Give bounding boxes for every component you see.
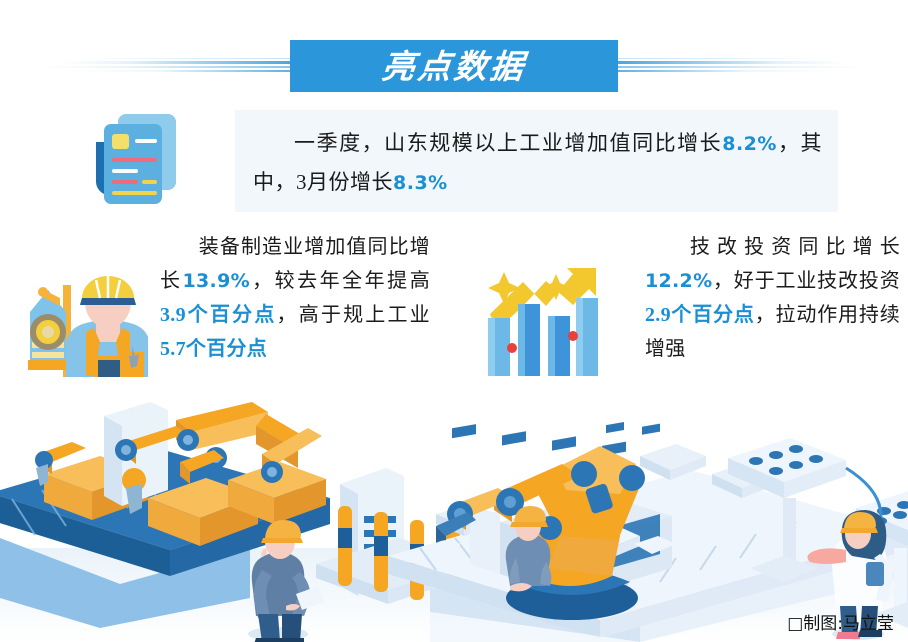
col1-value-growth: 13.9% bbox=[183, 270, 250, 292]
decorative-streaks-left bbox=[0, 18, 290, 90]
col1-p3: ，高于规上工业 bbox=[277, 304, 430, 326]
lead-stat-text: 一季度，山东规模以上工业增加值同比增长8.2%，其中，3月份增长8.3% bbox=[235, 110, 838, 202]
col2-p1: 技改投资同比增长 bbox=[683, 236, 900, 258]
decorative-streaks-right bbox=[618, 18, 908, 90]
lead-line1-pre: 一季度，山东规模以上工业增加值同比增长 bbox=[293, 131, 722, 155]
col1-value-increase: 3.9个百分点 bbox=[160, 304, 277, 326]
stat-column-equipment: 装备制造业增加值同比增长13.9%，较去年全年提高3.9个百分点，高于规上工业5… bbox=[160, 230, 430, 366]
credit-line: □制图:马立莹 bbox=[787, 609, 894, 634]
col2-value-better: 2.9个百分点 bbox=[645, 304, 755, 326]
stat-column-investment: 技改投资同比增长12.2%，好于工业技改投资2.9个百分点，拉动作用持续增强 bbox=[645, 230, 900, 366]
col2-p2: ，好于工业技改投资 bbox=[712, 270, 900, 292]
lead-stat-box: 一季度，山东规模以上工业增加值同比增长8.2%，其中，3月份增长8.3% bbox=[235, 110, 838, 212]
isometric-smart-factory-illustration bbox=[0, 398, 908, 642]
col1-value-above: 5.7个百分点 bbox=[160, 338, 267, 360]
document-report-icon bbox=[78, 108, 198, 213]
lead-value-march: 8.3% bbox=[393, 172, 448, 194]
header: 亮点数据 bbox=[0, 18, 908, 90]
bar-chart-growth-icon bbox=[468, 258, 613, 386]
lead-value-quarter: 8.2% bbox=[722, 133, 777, 155]
col2-value-growth: 12.2% bbox=[645, 270, 712, 292]
page-title: 亮点数据 bbox=[380, 50, 527, 83]
col1-p2: ，较去年全年提高 bbox=[250, 270, 430, 292]
lead-line1-post: ， bbox=[777, 131, 801, 155]
infographic-page: 亮点数据 一季度，山东规模以上工业增加值同比增长8.2%，其中，3月份增长8.3… bbox=[0, 0, 908, 642]
industrial-worker-icon bbox=[8, 240, 148, 385]
title-banner: 亮点数据 bbox=[290, 40, 618, 92]
